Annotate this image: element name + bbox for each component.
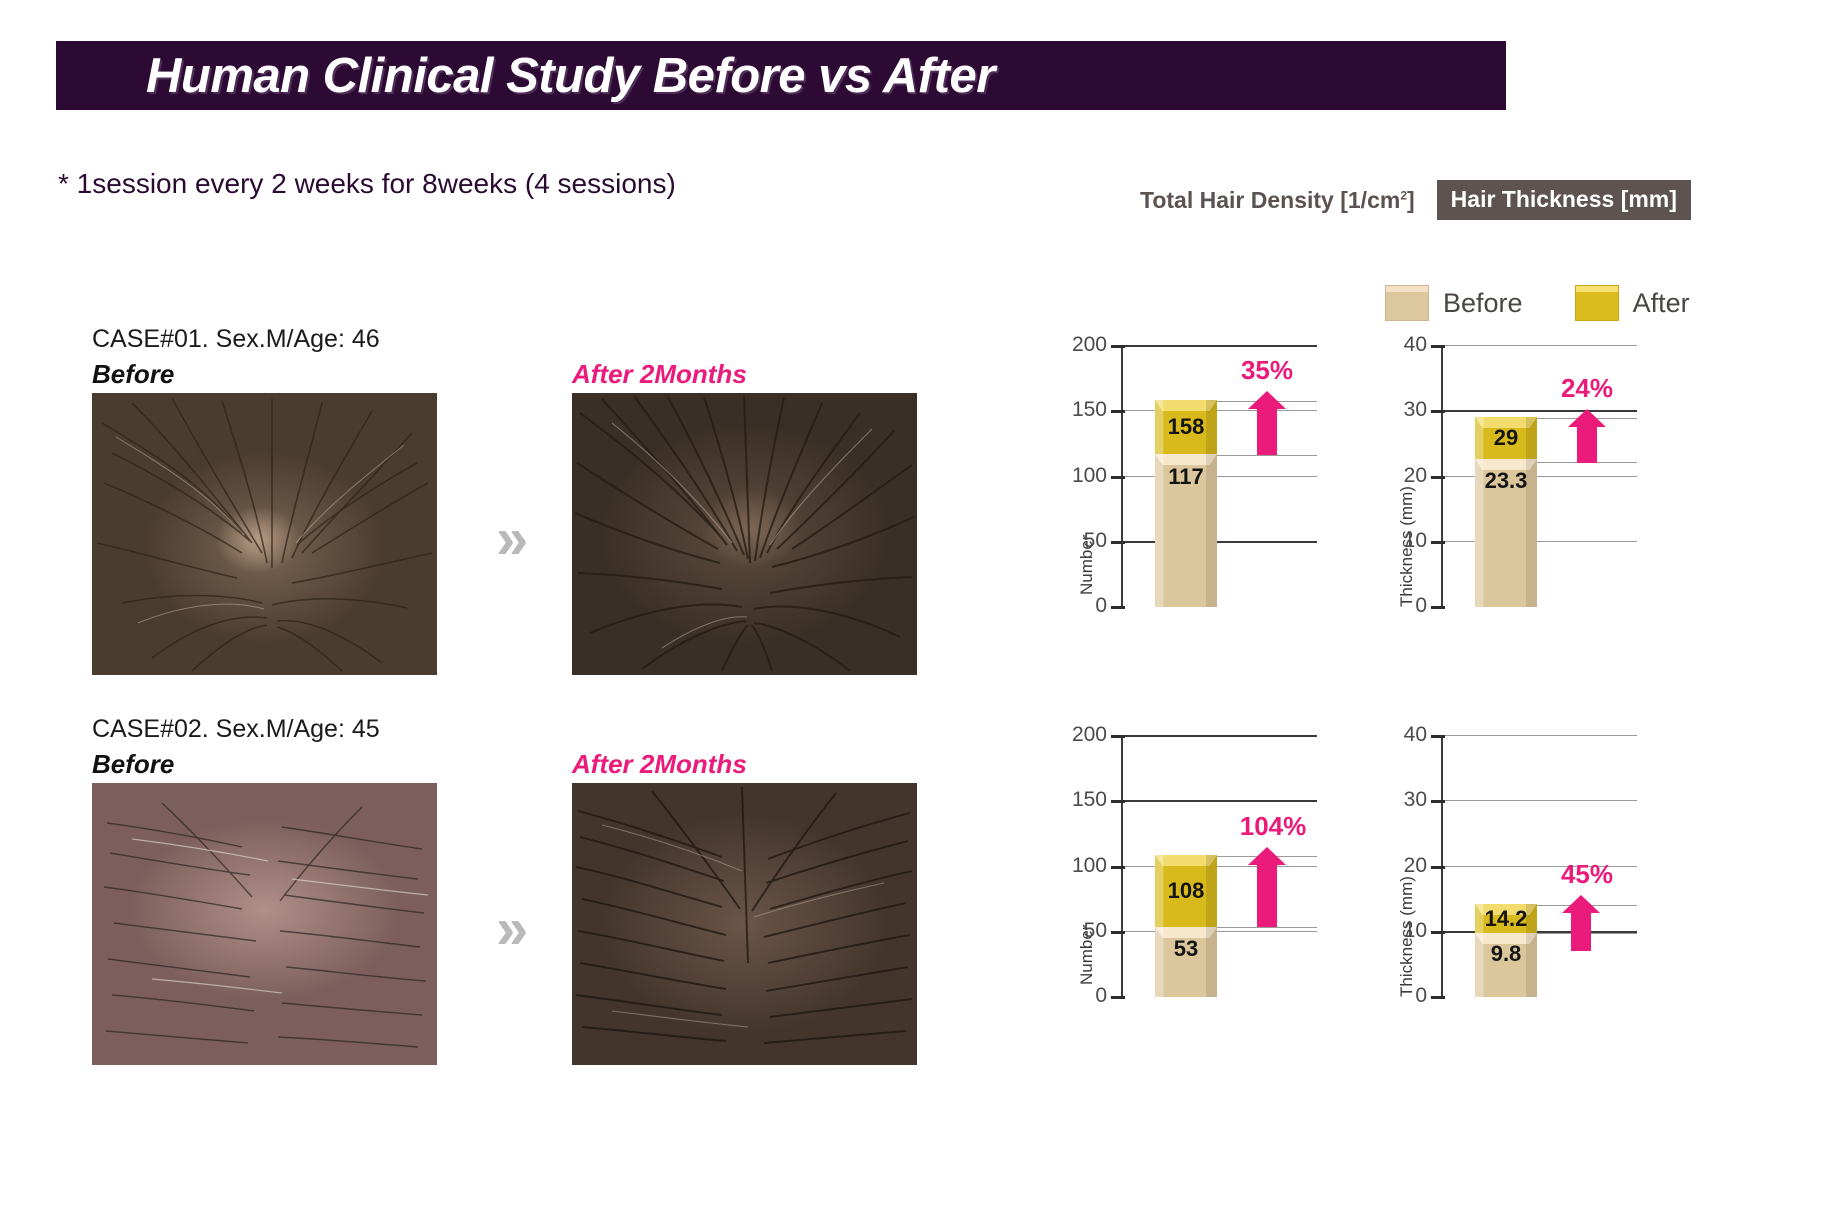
change-pct-case1-density: 35%	[1241, 355, 1293, 386]
bar-value-after: 108	[1168, 878, 1205, 904]
chart-case2-density-plot: 200 150 100 50 0 108 53 104%	[1121, 735, 1317, 997]
ytick-label-50: 50	[1084, 529, 1107, 553]
legend-before: Before	[1385, 285, 1523, 321]
chart-case1-thickness-plot: 40 30 20 10 0 29 23.3 24%	[1441, 345, 1637, 607]
bar-value-before: 117	[1168, 464, 1204, 490]
ytick-label-100: 100	[1072, 854, 1107, 878]
gridline-100	[1123, 476, 1317, 477]
after-swatch-label: After	[1633, 288, 1690, 319]
bar-segment-after: 158	[1155, 400, 1217, 454]
gridline-50	[1123, 931, 1317, 932]
bar-value-before: 53	[1174, 936, 1198, 962]
ytick-label-0: 0	[1415, 594, 1427, 618]
leader-line-before	[1217, 927, 1317, 928]
case-1-after-label: After 2Months	[572, 359, 747, 390]
ytick-label-40: 40	[1404, 723, 1427, 747]
gridline-150	[1123, 410, 1317, 411]
legend-swatches: Before After	[1385, 285, 1690, 321]
ytick-label-30: 30	[1404, 788, 1427, 812]
ytick-label-10: 10	[1404, 919, 1427, 943]
case-2-before-label: Before	[92, 749, 174, 780]
before-swatch-label: Before	[1443, 288, 1523, 319]
ytick-label-100: 100	[1072, 464, 1107, 488]
gridline-40	[1443, 345, 1637, 346]
page-title: Human Clinical Study Before vs After	[146, 48, 995, 104]
case-title-1: CASE#01. Sex.M/Age: 46	[92, 325, 380, 354]
ytick-label-0: 0	[1415, 984, 1427, 1008]
gridline-200	[1123, 735, 1317, 737]
increase-arrow-icon	[1577, 425, 1597, 463]
gridline-10	[1443, 541, 1637, 542]
increase-arrow-icon	[1571, 911, 1591, 951]
bar-segment-after: 14.2	[1475, 904, 1537, 933]
bar-segment-before: 23.3	[1475, 459, 1537, 607]
density-unit-superscript: 2	[1400, 188, 1407, 202]
bar-segment-after: 108	[1155, 855, 1217, 927]
density-unit-close: ]	[1407, 187, 1415, 213]
legend-header: Total Hair Density [1/cm2] Hair Thicknes…	[1140, 180, 1691, 220]
case-title-2: CASE#02. Sex.M/Age: 45	[92, 715, 380, 744]
stacked-bar-case1-thickness: 29 23.3	[1475, 417, 1537, 607]
bar-segment-before: 53	[1155, 927, 1217, 997]
gridline-150	[1123, 800, 1317, 802]
bar-segment-before: 117	[1155, 454, 1217, 607]
gridline-20	[1443, 476, 1637, 477]
bar-value-before: 9.8	[1491, 941, 1522, 967]
leader-line-before	[1217, 455, 1317, 456]
gridline-30	[1443, 800, 1637, 801]
hair-strands-overlay-icon	[572, 783, 917, 1065]
bar-segment-before: 9.8	[1475, 933, 1537, 997]
ytick-label-150: 150	[1072, 398, 1107, 422]
legend-after: After	[1575, 285, 1690, 321]
ytick-label-40: 40	[1404, 333, 1427, 357]
stacked-bar-case2-density: 108 53	[1155, 855, 1217, 997]
density-legend-text: Total Hair Density [1/cm	[1140, 187, 1400, 213]
bar-value-after: 158	[1168, 414, 1205, 440]
title-bar: Human Clinical Study Before vs After	[56, 41, 1506, 110]
hair-strands-overlay-icon	[92, 393, 437, 675]
increase-arrow-icon	[1257, 863, 1277, 927]
gridline-50	[1123, 541, 1317, 543]
thickness-legend-badge: Hair Thickness [mm]	[1437, 180, 1691, 220]
ytick-label-200: 200	[1072, 333, 1107, 357]
stacked-bar-case1-density: 158 117	[1155, 400, 1217, 607]
case-2-before-photo	[92, 783, 437, 1065]
case-1-before-photo	[92, 393, 437, 675]
case-1-arrow-icon: »	[496, 510, 528, 568]
ytick-label-200: 200	[1072, 723, 1107, 747]
density-legend-label: Total Hair Density [1/cm2]	[1140, 187, 1415, 214]
study-protocol-note: * 1session every 2 weeks for 8weeks (4 s…	[58, 168, 676, 200]
change-pct-case2-thickness: 45%	[1561, 859, 1613, 890]
gridline-100	[1123, 866, 1317, 867]
ytick-label-20: 20	[1404, 854, 1427, 878]
change-pct-case2-density: 104%	[1240, 811, 1307, 842]
change-pct-case1-thickness: 24%	[1561, 373, 1613, 404]
hair-strands-overlay-icon	[92, 783, 437, 1065]
case-1-after-photo	[572, 393, 917, 675]
bar-value-after: 14.2	[1485, 906, 1528, 932]
ytick-label-10: 10	[1404, 529, 1427, 553]
bar-segment-after: 29	[1475, 417, 1537, 459]
chart-case1-density-plot: 200 150 100 50 0 158 117 35%	[1121, 345, 1317, 607]
gridline-40	[1443, 735, 1637, 736]
bar-value-before: 23.3	[1485, 468, 1528, 494]
increase-arrow-icon	[1257, 407, 1277, 455]
after-swatch-icon	[1575, 285, 1619, 321]
ytick-label-30: 30	[1404, 398, 1427, 422]
ytick-label-20: 20	[1404, 464, 1427, 488]
stacked-bar-case2-thickness: 14.2 9.8	[1475, 904, 1537, 997]
case-2-arrow-icon: »	[496, 900, 528, 958]
ytick-label-50: 50	[1084, 919, 1107, 943]
ytick-label-150: 150	[1072, 788, 1107, 812]
gridline-200	[1123, 345, 1317, 347]
ytick-label-0: 0	[1095, 984, 1107, 1008]
hair-strands-overlay-icon	[572, 393, 917, 675]
case-1-before-label: Before	[92, 359, 174, 390]
gridline-30	[1443, 410, 1637, 412]
bar-value-after: 29	[1494, 425, 1518, 451]
case-2-after-photo	[572, 783, 917, 1065]
before-swatch-icon	[1385, 285, 1429, 321]
chart-case2-thickness-plot: 40 30 20 10 0 14.2 9.8 45%	[1441, 735, 1637, 997]
ytick-label-0: 0	[1095, 594, 1107, 618]
case-2-after-label: After 2Months	[572, 749, 747, 780]
